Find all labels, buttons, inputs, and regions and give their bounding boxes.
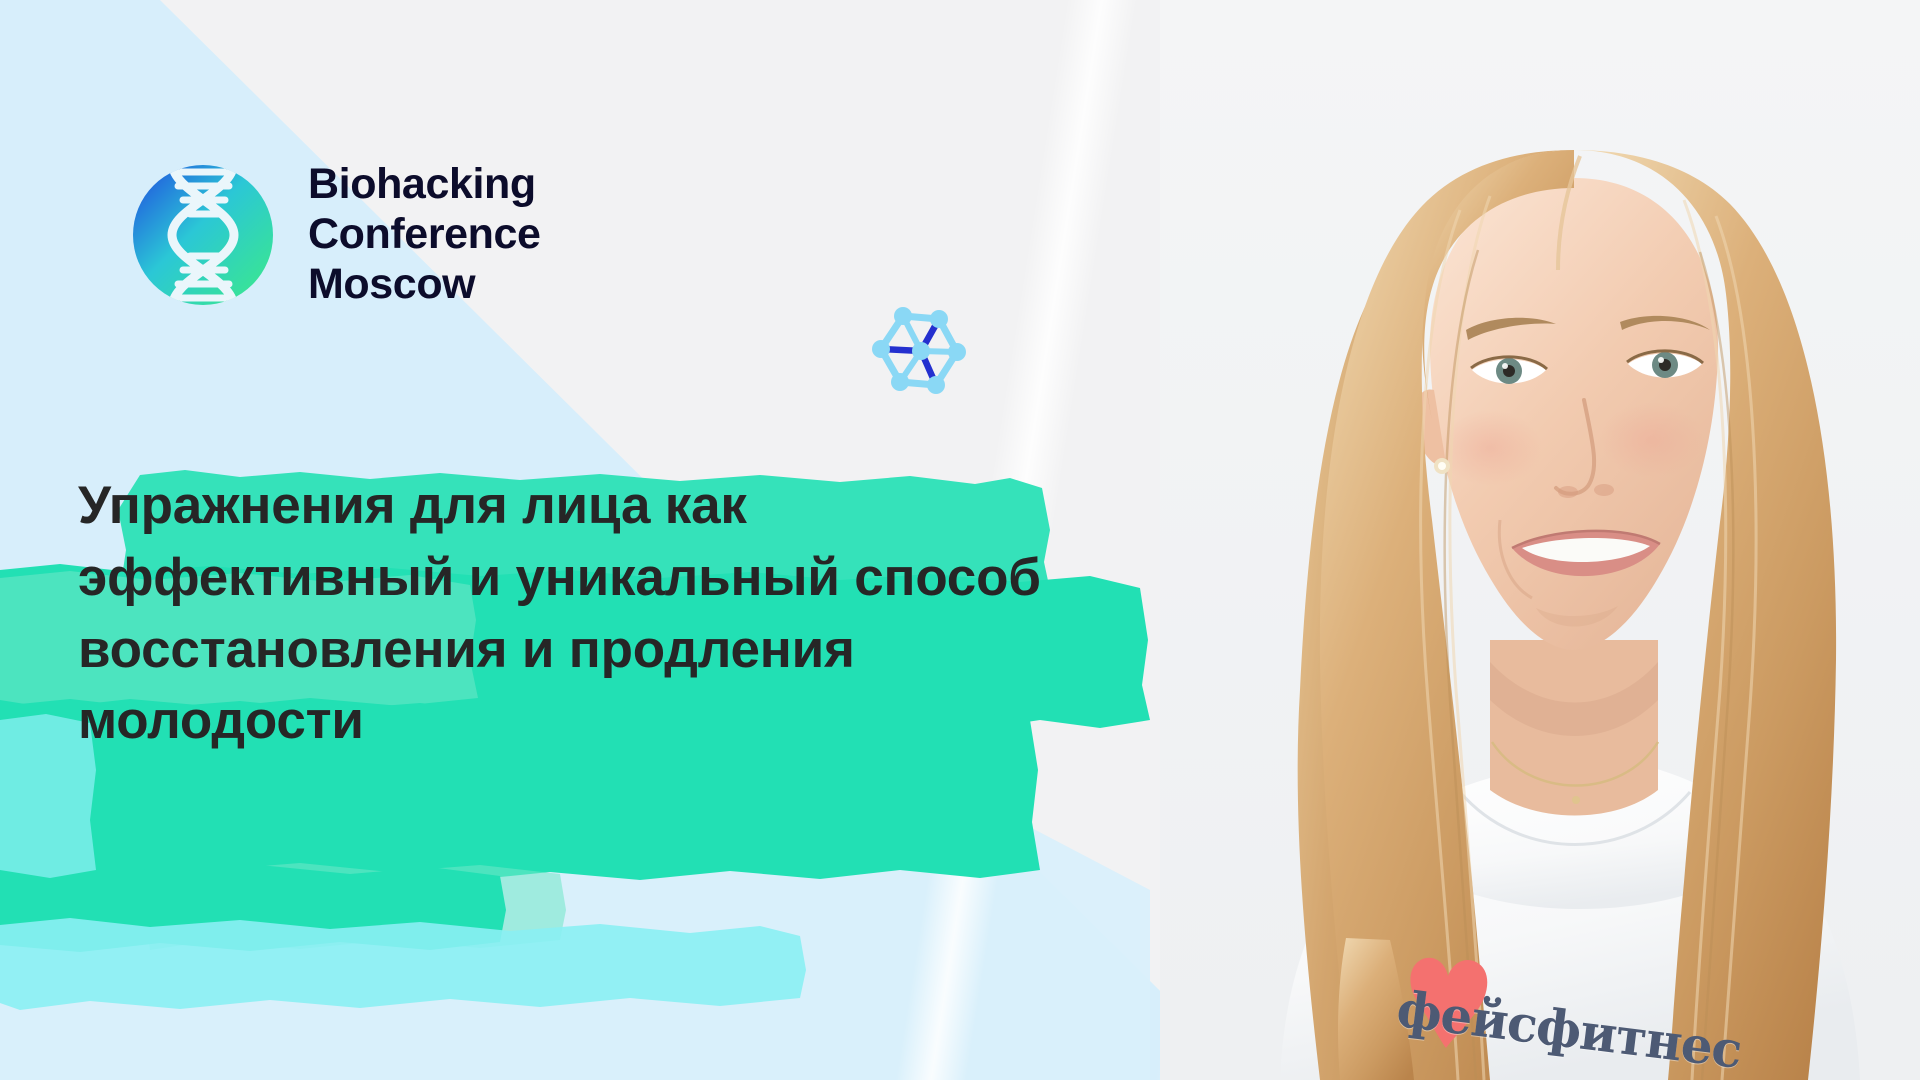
speaker-portrait: фейсфитнес	[1160, 0, 1920, 1080]
earring-icon	[1434, 458, 1450, 474]
brand-logo[interactable]: Biohacking Conference Moscow	[128, 160, 541, 310]
brand-logo-text: Biohacking Conference Moscow	[308, 160, 541, 310]
molecule-hexagon-icon	[865, 305, 975, 410]
slide-canvas: Biohacking Conference Moscow	[0, 0, 1920, 1080]
page-title: Упражнения для лица как эффективный и ун…	[0, 470, 1258, 757]
headline-block: Упражнения для лица как эффективный и ун…	[0, 470, 1320, 757]
dna-helix-circle-icon	[128, 160, 278, 310]
necklace-pendant	[1572, 796, 1580, 804]
